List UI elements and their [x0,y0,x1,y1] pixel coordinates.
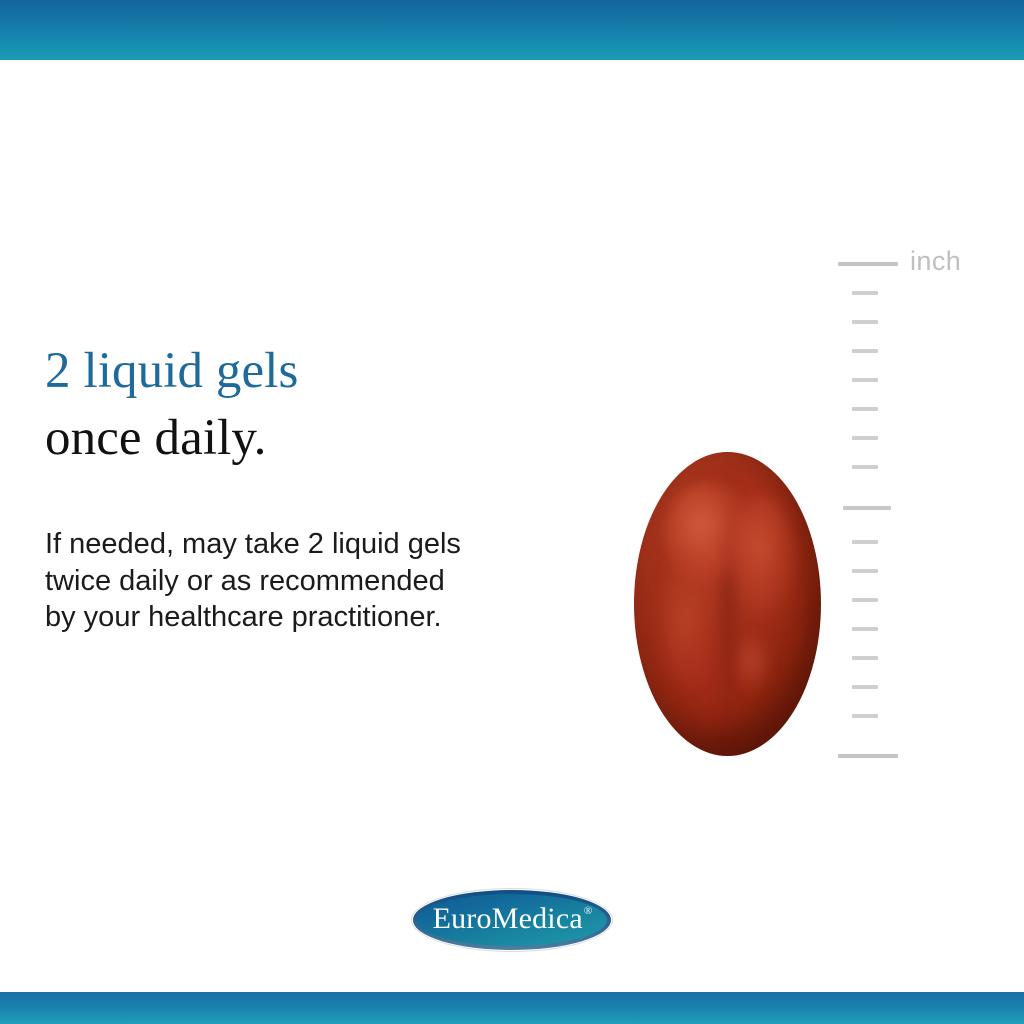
ruler-tick-minor [852,540,878,544]
ruler-tick-minor [852,627,878,631]
ruler-tick-minor [852,407,878,411]
softgel-capsule-image [634,452,821,756]
inch-ruler: inch [838,262,998,762]
ruler-tick-minor [852,320,878,324]
ruler-tick-half [843,506,891,510]
softgel-rim-shadow [634,452,821,756]
ruler-tick-minor [852,569,878,573]
top-brand-bar [0,0,1024,60]
headline-line-1: 2 liquid gels [45,338,515,405]
registered-trademark-icon: ® [584,905,593,917]
logo-oval-fill: EuroMedica® [417,894,607,946]
product-info-card: 2 liquid gels once daily. If needed, may… [0,0,1024,1024]
ruler-tick-minor [852,714,878,718]
ruler-tick-minor [852,656,878,660]
headline-line-2: once daily. [45,405,515,472]
ruler-tick-major-0 [838,262,898,266]
ruler-tick-minor [852,436,878,440]
ruler-tick-minor [852,291,878,295]
ruler-tick-minor [852,598,878,602]
ruler-tick-minor [852,378,878,382]
copy-block: 2 liquid gels once daily. If needed, may… [45,338,515,473]
bottom-brand-bar [0,992,1024,1024]
logo-wordmark-text: EuroMedica [433,902,583,935]
ruler-tick-minor [852,349,878,353]
ruler-tick-minor [852,685,878,689]
euromedica-logo: EuroMedica® [412,889,612,951]
ruler-tick-major-1 [838,754,898,758]
ruler-tick-minor [852,465,878,469]
logo-wordmark: EuroMedica® [433,904,592,934]
ruler-unit-label: inch [910,246,961,277]
page-title: 2 liquid gels once daily. [45,338,515,473]
body-copy: If needed, may take 2 liquid gels twice … [45,526,475,636]
